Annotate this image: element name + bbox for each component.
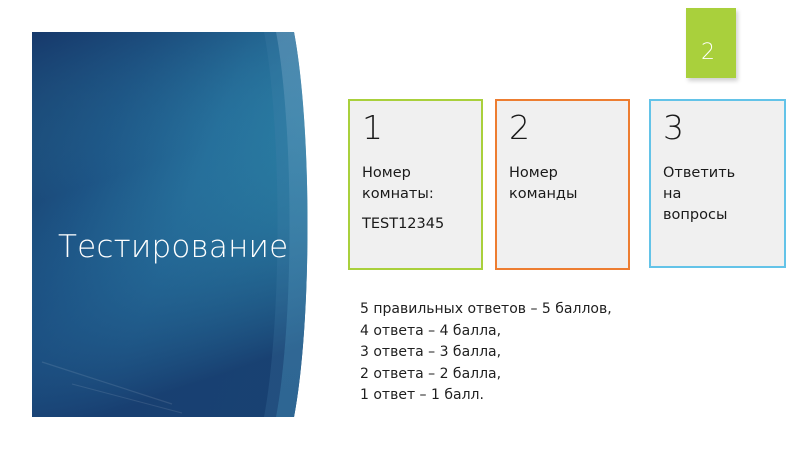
step-label-line: Ответить [663,163,778,184]
scoring-line: 2 ответа – 2 балла, [360,364,780,386]
scoring-line: 4 ответа – 4 балла, [360,321,780,343]
step-box-2[interactable]: 2 Номер команды [495,99,630,270]
step-content-3: Ответить на вопросы [663,163,778,226]
room-code-value: TEST12345 [362,214,475,235]
step-label-line: вопросы [663,205,778,226]
slide-number-badge: 2 [686,8,736,78]
scoring-line: 5 правильных ответов – 5 баллов, [360,299,780,321]
scoring-line: 3 ответа – 3 балла, [360,342,780,364]
step-number-1: 1 [362,109,383,147]
scoring-line: 1 ответ – 1 балл. [360,385,780,407]
step-content-1: Номер комнаты: TEST12345 [362,163,475,235]
step-label-line: на [663,184,778,205]
step-box-1[interactable]: 1 Номер комнаты: TEST12345 [348,99,483,270]
slide-number-value: 2 [701,42,715,64]
step-label-line: Номер [509,163,622,184]
step-box-3[interactable]: 3 Ответить на вопросы [649,99,786,268]
step-number-3: 3 [663,109,684,147]
step-label-line: Номер [362,163,475,184]
title-panel: Тестирование [32,32,322,417]
title-panel-shape [32,32,322,417]
slide-canvas: Тестирование 2 1 Номер комнаты: TEST1234… [0,0,800,450]
step-label-line: команды [509,184,622,205]
page-title: Тестирование [58,228,308,266]
step-label-line: комнаты: [362,184,475,205]
scoring-text-block: 5 правильных ответов – 5 баллов, 4 ответ… [360,299,780,407]
step-content-2: Номер команды [509,163,622,205]
step-number-2: 2 [509,109,530,147]
